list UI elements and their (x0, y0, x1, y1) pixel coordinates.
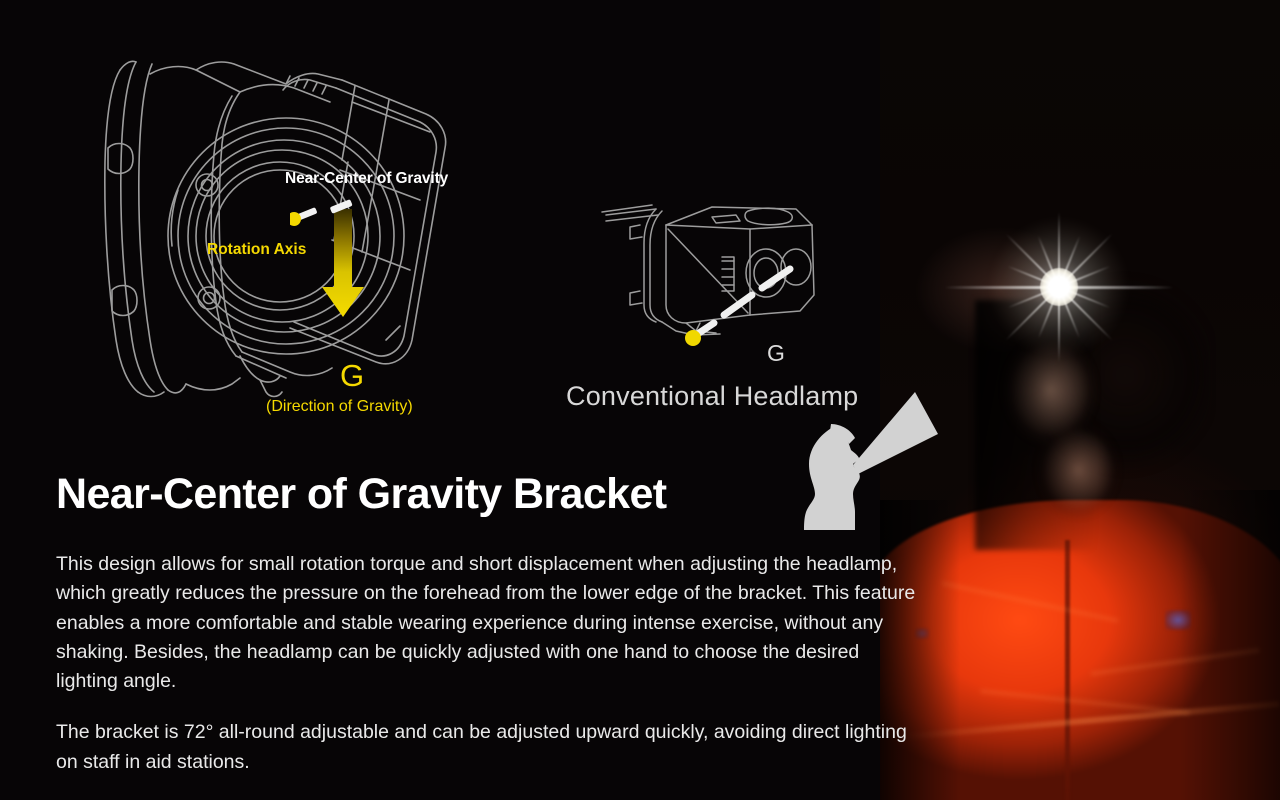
product-feature-slide: Near-Center of Gravity Rotation Axis G (… (0, 0, 1280, 800)
conventional-headlamp-diagram (600, 195, 900, 375)
photo-shadow (1180, 490, 1280, 800)
center-of-gravity-dashed-line (696, 269, 790, 335)
head-with-beam-icon (795, 388, 945, 533)
conventional-rotation-axis-dot (685, 330, 701, 346)
label-near-center-of-gravity: Near-Center of Gravity (285, 170, 448, 188)
label-gravity-symbol-left: G (340, 358, 364, 394)
page-title: Near-Center of Gravity Bracket (56, 470, 667, 519)
body-copy: This design allows for small rotation to… (56, 550, 926, 777)
paragraph-2: The bracket is 72° all-round adjustable … (56, 718, 926, 777)
jacket-zipper (1065, 540, 1070, 800)
paragraph-1: This design allows for small rotation to… (56, 550, 926, 696)
gravity-arrow (322, 209, 364, 317)
label-gravity-symbol-right: G (767, 340, 785, 367)
gravity-arrow-group (290, 195, 400, 335)
label-direction-of-gravity: (Direction of Gravity) (266, 398, 413, 416)
light-beam-cone (853, 392, 938, 474)
head-silhouette (804, 426, 860, 530)
headlamp-light-source (1040, 268, 1078, 306)
label-rotation-axis: Rotation Axis (207, 241, 306, 259)
